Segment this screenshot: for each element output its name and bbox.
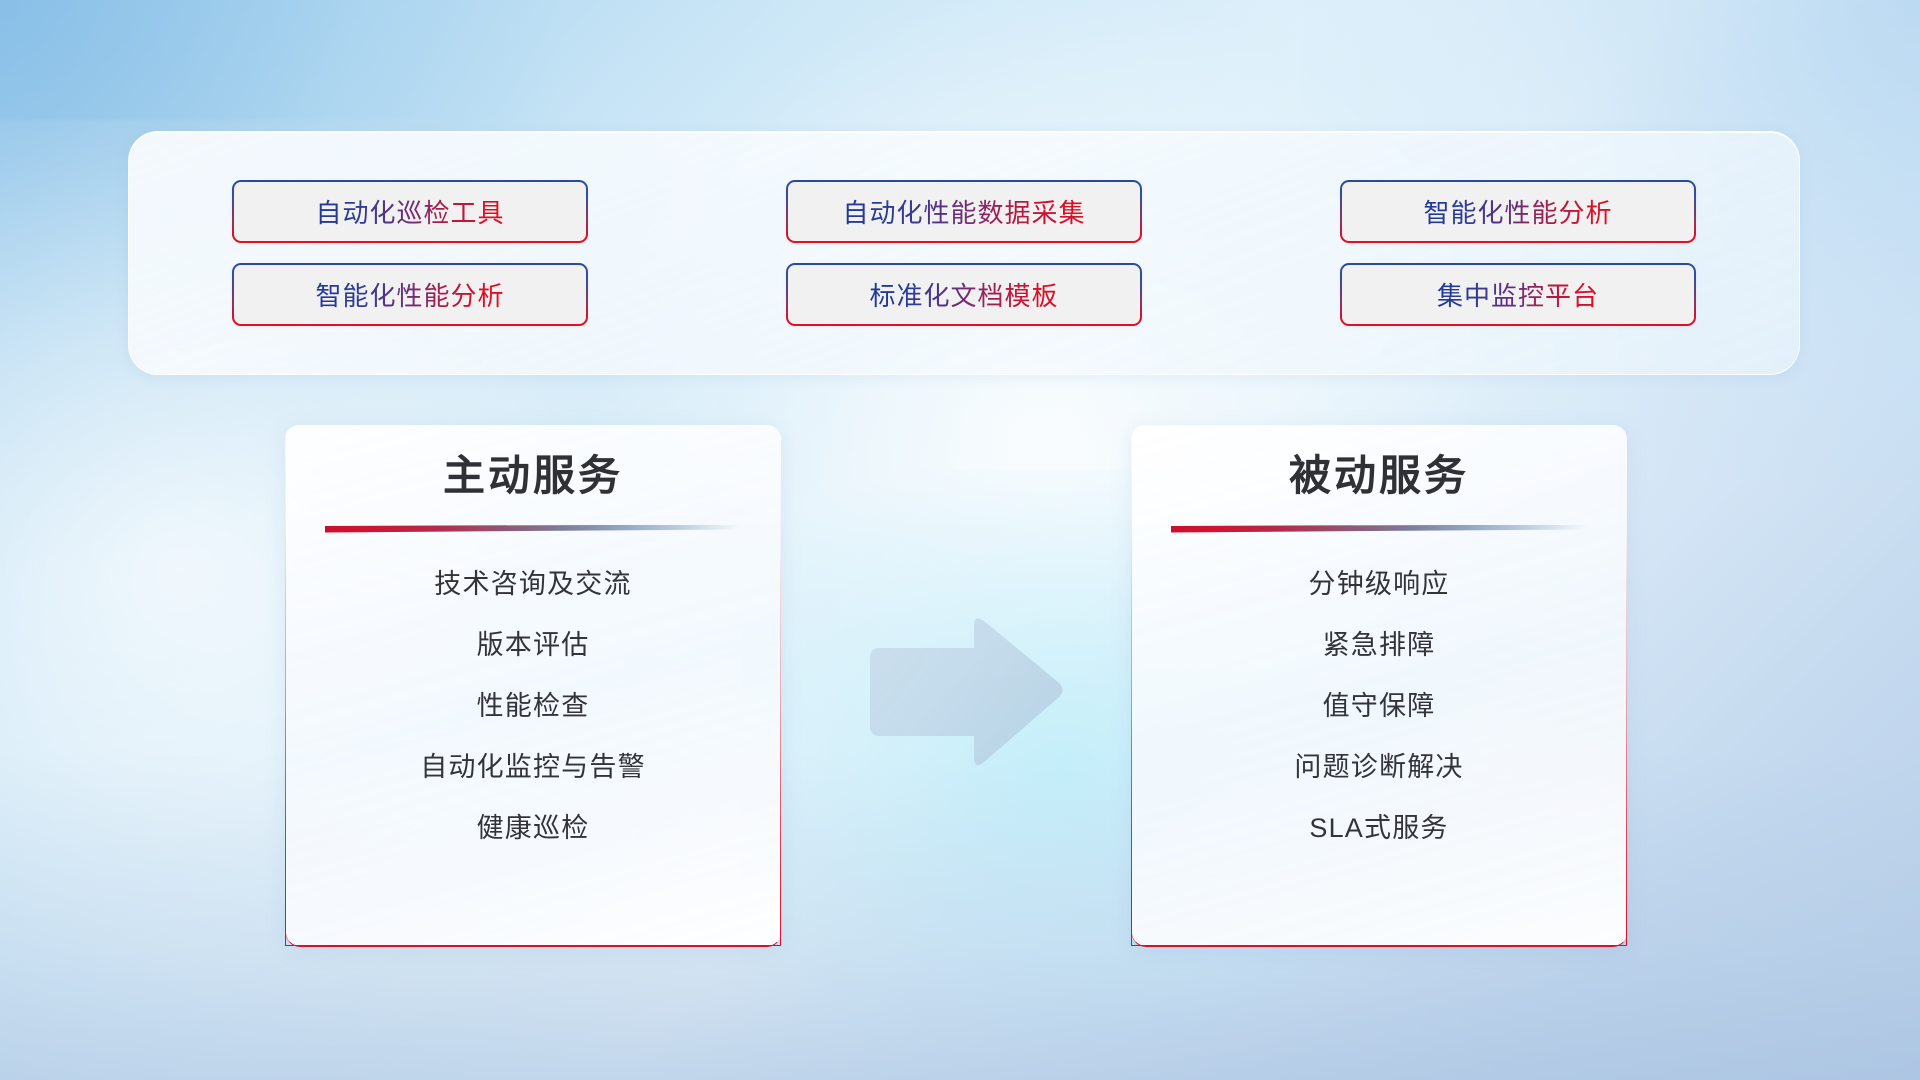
capability-tag-label: 自动化性能数据采集	[842, 193, 1085, 230]
card-divider	[325, 525, 741, 533]
service-list-item: 技术咨询及交流	[434, 567, 631, 602]
service-card-active[interactable]: 主动服务 技术咨询及交流 版本评估 性能检查 自动化监控与告警 健康巡检	[285, 425, 781, 946]
card-title: 主动服务	[286, 450, 780, 503]
service-list-item: 紧急排障	[1323, 628, 1436, 663]
service-list-item: SLA式服务	[1309, 811, 1448, 846]
arrow-right-icon	[862, 612, 1068, 774]
service-list-item: 分钟级响应	[1309, 567, 1450, 602]
card-divider-bar	[1171, 525, 1587, 533]
service-item-list: 技术咨询及交流 版本评估 性能检查 自动化监控与告警 健康巡检	[286, 567, 780, 846]
service-list-item: 健康巡检	[477, 811, 590, 846]
capability-panel: 自动化巡检工具 自动化性能数据采集 智能化性能分析 智能化性能分析 标准化文档模…	[128, 131, 1800, 375]
slide-canvas: 自动化巡检工具 自动化性能数据采集 智能化性能分析 智能化性能分析 标准化文档模…	[0, 0, 1920, 1080]
capability-tag-label: 集中监控平台	[1437, 276, 1599, 313]
service-list-item: 版本评估	[477, 628, 590, 663]
capability-tag-grid: 自动化巡检工具 自动化性能数据采集 智能化性能分析 智能化性能分析 标准化文档模…	[232, 180, 1696, 326]
capability-tag-label: 智能化性能分析	[315, 276, 504, 313]
service-list-item: 性能检查	[477, 689, 590, 724]
capability-tag[interactable]: 自动化巡检工具	[232, 180, 588, 243]
card-divider	[1171, 525, 1587, 533]
card-divider-bar	[325, 525, 741, 533]
capability-tag-label: 标准化文档模板	[869, 276, 1058, 313]
capability-tag[interactable]: 标准化文档模板	[786, 263, 1142, 326]
service-list-item: 值守保障	[1323, 689, 1436, 724]
capability-tag-label: 自动化巡检工具	[315, 193, 504, 230]
service-list-item: 自动化监控与告警	[420, 750, 646, 785]
service-list-item: 问题诊断解决	[1294, 750, 1463, 785]
capability-tag[interactable]: 自动化性能数据采集	[786, 180, 1142, 243]
service-item-list: 分钟级响应 紧急排障 值守保障 问题诊断解决 SLA式服务	[1132, 567, 1626, 846]
card-title: 被动服务	[1132, 450, 1626, 503]
capability-tag[interactable]: 集中监控平台	[1340, 263, 1696, 326]
capability-tag[interactable]: 智能化性能分析	[232, 263, 588, 326]
capability-tag[interactable]: 智能化性能分析	[1340, 180, 1696, 243]
capability-tag-label: 智能化性能分析	[1423, 193, 1612, 230]
service-card-passive[interactable]: 被动服务 分钟级响应 紧急排障 值守保障 问题诊断解决 SLA式服务	[1131, 425, 1627, 946]
